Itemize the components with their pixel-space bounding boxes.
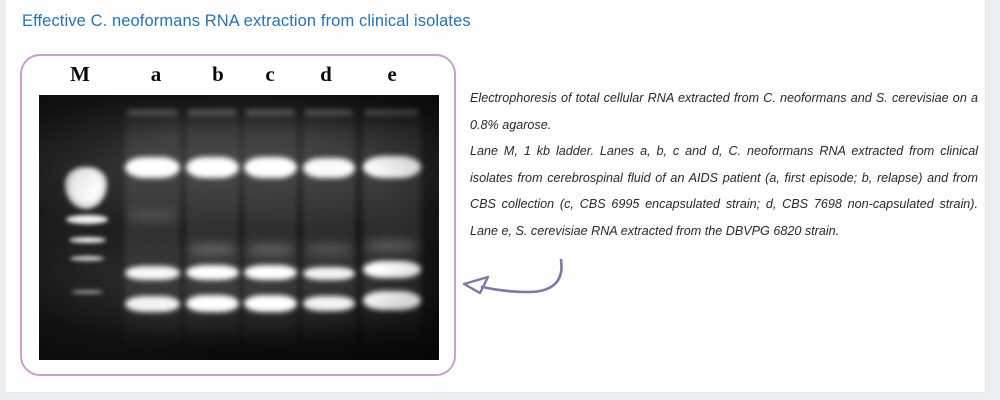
band-c-25s <box>244 157 297 178</box>
lane-smear-e <box>363 106 421 350</box>
band-a-faint-smear <box>127 211 178 220</box>
ladder-band-3 <box>69 237 106 243</box>
ladder-band-4 <box>70 256 104 261</box>
lane-smear-d <box>303 106 355 350</box>
band-e-faint-smear <box>365 241 419 251</box>
band-c-lower <box>244 295 297 312</box>
lane-label-e: e <box>377 59 407 89</box>
band-c-18s <box>244 265 297 280</box>
ladder-band-5 <box>71 290 103 294</box>
well-a <box>127 109 177 116</box>
ladder-band-2 <box>66 215 108 224</box>
band-b-lower <box>186 295 239 312</box>
band-e-18s <box>363 261 421 278</box>
band-d-lower <box>303 296 355 311</box>
well-d <box>305 109 352 116</box>
well-e <box>365 109 418 116</box>
band-a-18s <box>125 266 180 280</box>
band-a-lower <box>125 296 180 312</box>
band-c-faint-smear <box>246 245 295 254</box>
page-title: Effective C. neoformans RNA extraction f… <box>22 11 471 31</box>
lane-label-row: M a b c d e <box>22 59 454 95</box>
band-d-18s <box>303 267 355 280</box>
band-e-25s <box>363 156 421 178</box>
figure-card: M a b c d e <box>20 54 456 376</box>
band-b-faint-smear <box>188 245 237 254</box>
figure-caption: Electrophoresis of total cellular RNA ex… <box>470 85 978 244</box>
well-c <box>246 109 294 116</box>
lane-label-b: b <box>203 59 233 89</box>
band-d-25s <box>303 158 355 178</box>
caption-paragraph-1: Electrophoresis of total cellular RNA ex… <box>470 85 978 138</box>
band-b-25s <box>186 157 239 178</box>
lane-smear-a <box>125 106 180 350</box>
band-a-25s <box>125 157 180 178</box>
footer-divider <box>6 392 985 393</box>
lane-label-c: c <box>255 59 285 89</box>
caption-paragraph-2: Lane M, 1 kb ladder. Lanes a, b, c and d… <box>470 138 978 244</box>
lane-label-a: a <box>141 59 171 89</box>
lane-smear-b <box>186 106 239 350</box>
band-d-faint-smear <box>305 245 353 254</box>
page-root: Effective C. neoformans RNA extraction f… <box>0 0 1000 400</box>
lane-label-M: M <box>65 59 95 89</box>
gel-electrophoresis-image <box>39 95 439 360</box>
lane-smear-c <box>244 106 297 350</box>
band-e-lower <box>363 291 421 310</box>
lane-label-d: d <box>311 59 341 89</box>
band-b-18s <box>186 265 239 280</box>
well-b <box>188 109 236 116</box>
